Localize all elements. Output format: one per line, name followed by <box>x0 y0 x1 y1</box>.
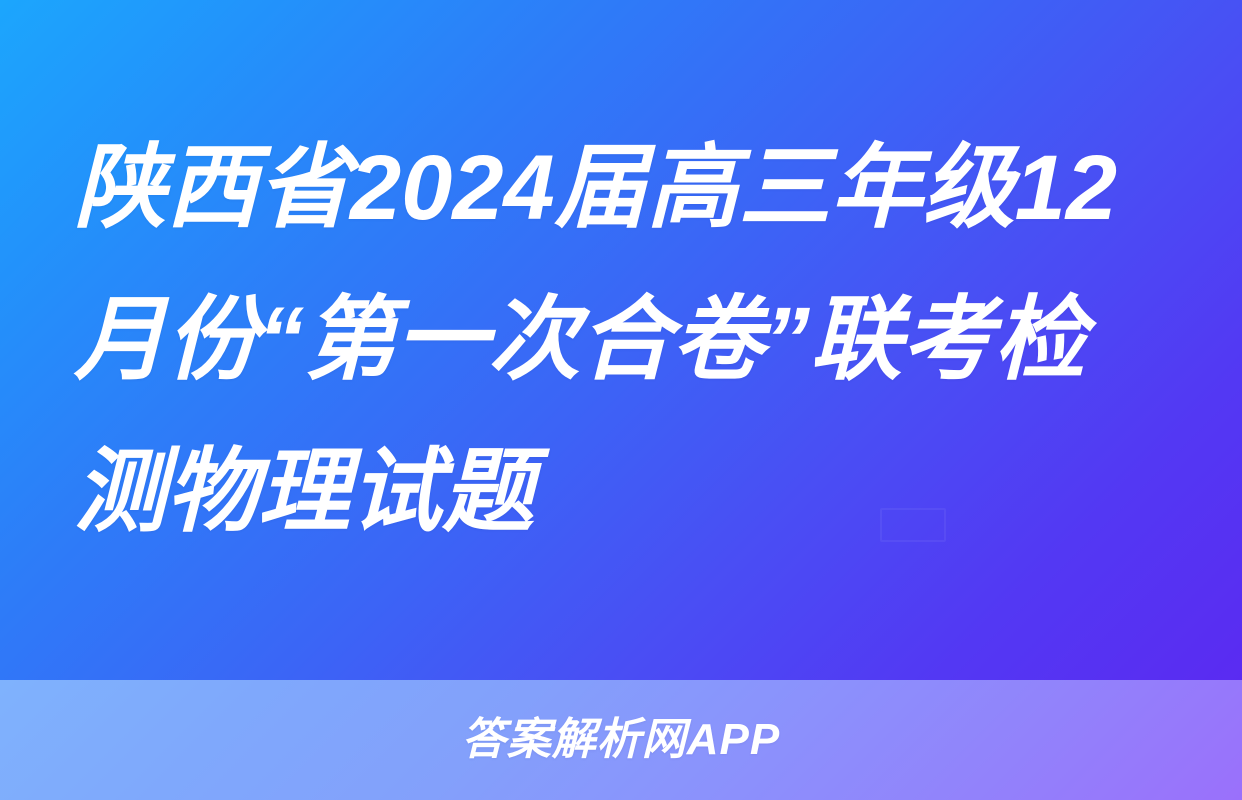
watermark-container: 答案解析网APP <box>0 680 1242 800</box>
page-title: 陕西省2024届高三年级12月份“第一次合卷”联考检测物理试题 <box>74 112 1168 568</box>
poster-root: 陕西省2024届高三年级12月份“第一次合卷”联考检测物理试题 答案解析网APP <box>0 0 1242 800</box>
title-container: 陕西省2024届高三年级12月份“第一次合卷”联考检测物理试题 <box>0 0 1242 680</box>
app-watermark-label: 答案解析网APP <box>462 716 780 764</box>
